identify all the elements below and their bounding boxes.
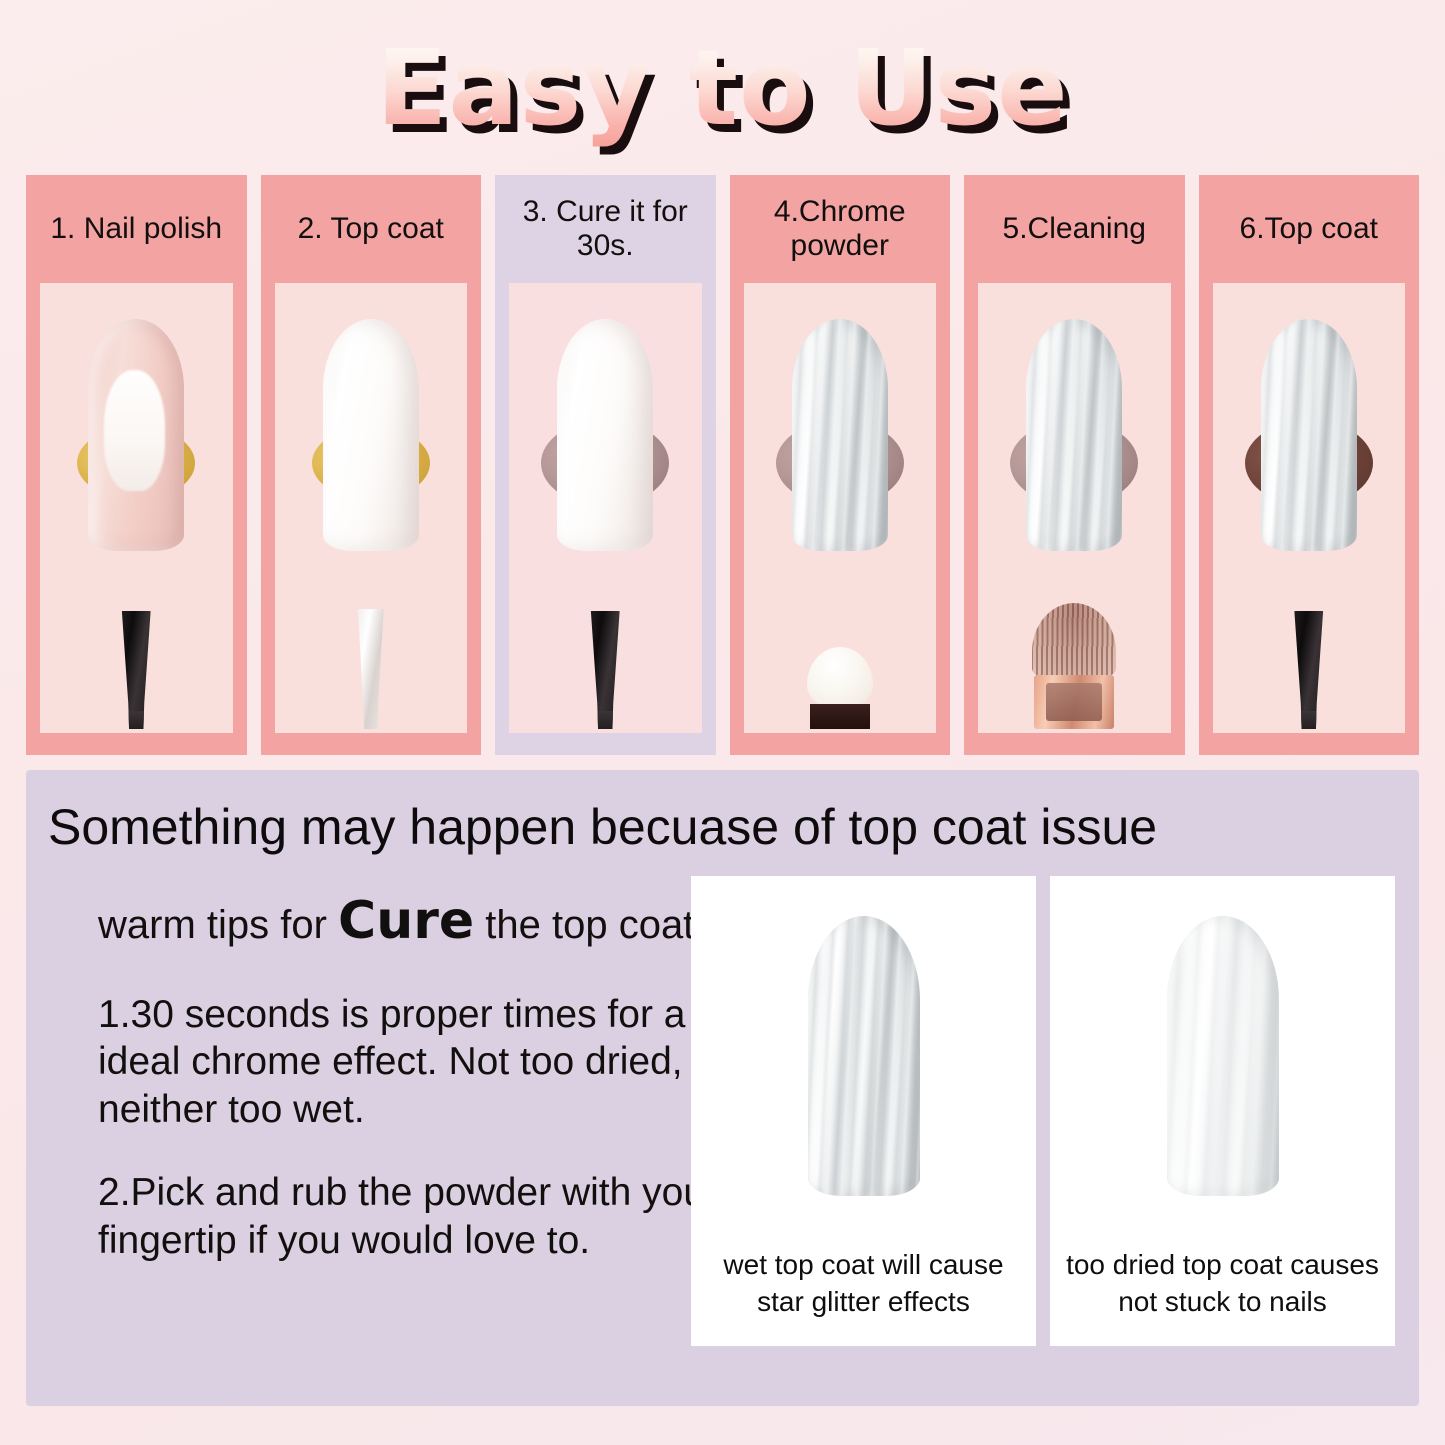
- topcoat-brush-icon: [352, 609, 390, 729]
- step-header-2: 2. Top coat: [261, 175, 482, 283]
- nail-tip-icon: [792, 319, 888, 551]
- nail-tip-icon: [1026, 319, 1122, 551]
- comparison-card-wet: wet top coat will cause star glitter eff…: [691, 876, 1036, 1346]
- step-card-1: 1. Nail polish: [26, 175, 247, 755]
- step-label-4: 4.Chrome powder: [736, 195, 945, 262]
- step-card-2: 2. Top coat: [261, 175, 482, 755]
- warm-tips-column: warm tips for Cure the top coat: 1.30 se…: [98, 888, 718, 1264]
- nail-tip-icon: [557, 319, 653, 551]
- tip-item-2: 2.Pick and rub the powder with your fing…: [98, 1169, 718, 1264]
- polish-brush-icon: [585, 611, 625, 729]
- chrome-powder-applicator-icon: [806, 611, 874, 729]
- polish-brush-icon: [1289, 611, 1329, 729]
- step-label-6: 6.Top coat: [1240, 212, 1378, 246]
- step-header-5: 5.Cleaning: [964, 175, 1185, 283]
- nail-tip-icon: [323, 319, 419, 551]
- step-label-5: 5.Cleaning: [1003, 212, 1146, 246]
- warm-tips-line: warm tips for Cure the top coat:: [98, 888, 718, 955]
- page-title: Easy to Use Easy to Use: [0, 28, 1445, 148]
- chrome-nail-sample-icon: [808, 916, 920, 1196]
- step-header-1: 1. Nail polish: [26, 175, 247, 283]
- issue-section: Something may happen becuase of top coat…: [26, 770, 1419, 1406]
- step-label-2: 2. Top coat: [298, 212, 444, 246]
- pearl-nail-sample-icon: [1167, 916, 1279, 1196]
- step-photo-5: [978, 283, 1171, 733]
- comparison-cards: wet top coat will cause star glitter eff…: [691, 876, 1395, 1346]
- step-photo-1: [40, 283, 233, 733]
- nail-tip-icon: [88, 319, 184, 551]
- step-header-4: 4.Chrome powder: [730, 175, 951, 283]
- nail-tip-icon: [1261, 319, 1357, 551]
- warm-tips-prefix: warm tips for: [98, 903, 338, 947]
- warm-tips-suffix: the top coat:: [474, 903, 705, 947]
- step-header-3: 3. Cure it for 30s.: [495, 175, 716, 283]
- tip-item-1: 1.30 seconds is proper times for a ideal…: [98, 991, 718, 1134]
- step-photo-2: [275, 283, 468, 733]
- step-card-6: 6.Top coat: [1199, 175, 1420, 755]
- step-photo-3: [509, 283, 702, 733]
- polish-brush-icon: [116, 611, 156, 729]
- cleaning-brush-icon: [1031, 603, 1117, 729]
- step-photo-6: [1213, 283, 1406, 733]
- comparison-caption-dried: too dried top coat causes not stuck to n…: [1050, 1247, 1395, 1320]
- step-card-4: 4.Chrome powder: [730, 175, 951, 755]
- step-label-1: 1. Nail polish: [50, 212, 222, 246]
- page-title-text: Easy to Use: [376, 27, 1068, 149]
- comparison-card-dried: too dried top coat causes not stuck to n…: [1050, 876, 1395, 1346]
- warm-tips-emphasis: Cure: [338, 891, 474, 951]
- step-photo-4: [744, 283, 937, 733]
- steps-strip: 1. Nail polish 2. Top coat 3. Cure it fo…: [26, 175, 1419, 755]
- step-card-3: 3. Cure it for 30s.: [495, 175, 716, 755]
- step-label-3: 3. Cure it for 30s.: [501, 195, 710, 262]
- comparison-caption-wet: wet top coat will cause star glitter eff…: [691, 1247, 1036, 1320]
- step-header-6: 6.Top coat: [1199, 175, 1420, 283]
- issue-heading: Something may happen becuase of top coat…: [48, 798, 1408, 856]
- step-card-5: 5.Cleaning: [964, 175, 1185, 755]
